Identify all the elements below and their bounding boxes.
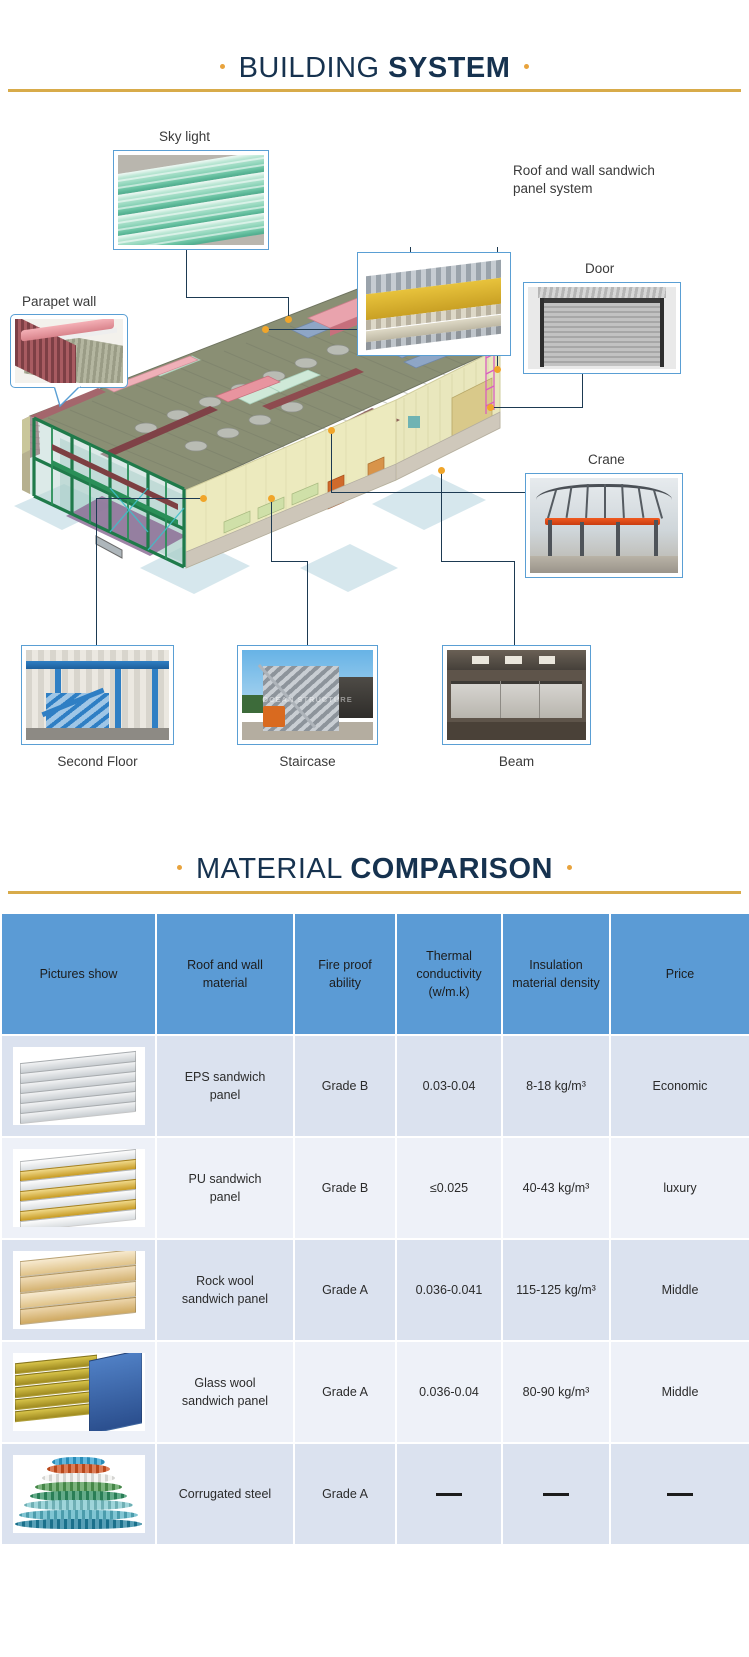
door-header-panel: [538, 287, 665, 298]
table-row: PU sandwich panel Grade B ≤0.025 40-43 k…: [1, 1137, 749, 1239]
leader-door-v1: [582, 372, 583, 408]
staircase-watermark: OCEAN STRUCTURE: [247, 695, 368, 704]
beam-floor: [447, 722, 586, 740]
crane-floor: [530, 556, 678, 573]
cell-density: 8-18 kg/m³: [502, 1035, 610, 1137]
building-system-heading: BUILDING SYSTEM: [0, 52, 749, 85]
beam-stiffener: [500, 681, 502, 719]
crane-column: [548, 520, 552, 560]
table-row: Corrugated steel Grade A: [1, 1443, 749, 1545]
empty-dash: [543, 1493, 569, 1496]
photo-second-floor-art: [26, 650, 169, 740]
cell-material: Corrugated steel: [156, 1443, 294, 1545]
photo-roof-wall-panel-art: [362, 257, 506, 351]
cell-material: Glass wool sandwich panel: [156, 1341, 294, 1443]
overhead-crane-art: [530, 478, 678, 573]
cell-picture: [1, 1239, 156, 1341]
table-header-row: Pictures show Roof and wall material Fir…: [1, 913, 749, 1035]
glass-wool-panel-art: [13, 1353, 145, 1431]
cell-fireproof: Grade B: [294, 1137, 396, 1239]
eps-panel-thumbnail: [13, 1047, 145, 1125]
cell-material-l2: panel: [210, 1088, 241, 1102]
photo-roof-wall-panel: [357, 252, 511, 356]
leader-beam-h: [441, 561, 515, 562]
heading-dot-left: [220, 64, 225, 69]
leader-door-h: [490, 407, 583, 408]
rock-wool-panel-art: [13, 1251, 145, 1329]
leader-staircase-h: [271, 561, 308, 562]
cell-material: Rock wool sandwich panel: [156, 1239, 294, 1341]
node-skylight: [285, 316, 292, 323]
cell-picture: [1, 1443, 156, 1545]
leader-crane-v: [331, 430, 332, 493]
pu-panel-thumbnail: [13, 1149, 145, 1227]
col-header-thermal-l2: conductivity: [416, 967, 481, 981]
empty-dash: [436, 1493, 462, 1496]
sandwich-panel-art: [362, 257, 506, 351]
col-header-fireproof-l1: Fire proof: [318, 958, 372, 972]
col-header-material-l1: Roof and wall: [187, 958, 263, 972]
cell-material: PU sandwich panel: [156, 1137, 294, 1239]
node-staircase: [268, 495, 275, 502]
col-header-pictures-label: Pictures show: [40, 967, 118, 981]
col-header-material-l2: material: [203, 976, 247, 990]
col-header-price-label: Price: [666, 967, 694, 981]
photo-sky-light-art: [118, 155, 264, 245]
rock-wool-panel-thumbnail: [13, 1251, 145, 1329]
photo-door-art: [528, 287, 676, 369]
parapet-wall-art: [15, 319, 123, 383]
glass-wool-panel-thumbnail: [13, 1353, 145, 1431]
table-row: Rock wool sandwich panel Grade A 0.036-0…: [1, 1239, 749, 1341]
col-header-density-l1: Insulation: [529, 958, 583, 972]
crane-rafter: [604, 484, 606, 518]
heading-rule-1: [8, 89, 741, 92]
heading2-word-bold: COMPARISON: [350, 853, 553, 885]
second-floor-post: [115, 669, 121, 728]
col-header-fireproof: Fire proof ability: [294, 913, 396, 1035]
material-comparison-heading: MATERIAL COMPARISON: [0, 853, 749, 886]
crane-bridge-girder: [545, 518, 660, 526]
col-header-thermal: Thermal conductivity (w/m.k): [396, 913, 502, 1035]
leader-beam-v2: [514, 561, 515, 645]
col-header-density: Insulation material density: [502, 913, 610, 1035]
heading2-word-light: MATERIAL: [196, 853, 342, 885]
leader-skylight-h: [186, 297, 289, 298]
beam-window: [472, 656, 489, 664]
heading-dot-right: [524, 64, 529, 69]
cell-thermal: ≤0.025: [396, 1137, 502, 1239]
heading-rule-2: [8, 891, 741, 894]
callout-label-second-floor: Second Floor: [21, 753, 174, 771]
cell-density: 115-125 kg/m³: [502, 1239, 610, 1341]
photo-staircase-art: OCEAN STRUCTURE: [242, 650, 373, 740]
sky-light-art: [118, 155, 264, 245]
beam-window: [505, 656, 522, 664]
cell-material: EPS sandwich panel: [156, 1035, 294, 1137]
crane-column: [654, 520, 658, 560]
cell-material-l2: panel: [210, 1190, 241, 1204]
cell-fireproof: Grade A: [294, 1341, 396, 1443]
col-header-density-l2: material density: [512, 976, 600, 990]
photo-door: [523, 282, 681, 374]
node-panel-roof: [262, 326, 269, 333]
callout-label-parapet-wall: Parapet wall: [22, 293, 162, 311]
cell-picture: [1, 1035, 156, 1137]
callout-label-sky-light: Sky light: [159, 128, 299, 146]
node-secondfloor: [200, 495, 207, 502]
heading2-dot-left: [177, 865, 182, 870]
cell-thermal: 0.036-0.04: [396, 1341, 502, 1443]
node-beam: [438, 467, 445, 474]
node-crane: [328, 427, 335, 434]
leader-skylight-v1: [186, 250, 187, 298]
photo-sky-light: [113, 150, 269, 250]
photo-crane: [525, 473, 683, 578]
cell-thermal: 0.036-0.041: [396, 1239, 502, 1341]
cell-material-l1: PU sandwich: [189, 1172, 262, 1186]
cell-fireproof: Grade A: [294, 1443, 396, 1545]
node-door: [487, 404, 494, 411]
callout-label-crane: Crane: [588, 451, 668, 469]
cell-picture: [1, 1341, 156, 1443]
corrugated-steel-art: [13, 1455, 145, 1533]
cell-material-l1: Rock wool: [196, 1274, 254, 1288]
corrugated-steel-thumbnail: [13, 1455, 145, 1533]
col-header-pictures: Pictures show: [1, 913, 156, 1035]
table-row: EPS sandwich panel Grade B 0.03-0.04 8-1…: [1, 1035, 749, 1137]
second-floor-deck: [26, 661, 169, 669]
cell-material-l2: sandwich panel: [182, 1394, 268, 1408]
cell-thermal: 0.03-0.04: [396, 1035, 502, 1137]
beam-web-plate: [451, 681, 582, 719]
second-floor-post: [152, 669, 158, 728]
col-header-fireproof-l2: ability: [329, 976, 361, 990]
callout-label-staircase: Staircase: [237, 753, 378, 771]
roller-door-art: [528, 287, 676, 369]
beam-window: [539, 656, 556, 664]
material-comparison-table: Pictures show Roof and wall material Fir…: [0, 912, 749, 1546]
pu-panel-art: [13, 1149, 145, 1227]
cell-fireproof: Grade A: [294, 1239, 396, 1341]
node-panel-wall: [494, 366, 501, 373]
photo-crane-art: [530, 478, 678, 573]
beam-stiffener: [539, 681, 541, 719]
cell-material-l1: EPS sandwich: [185, 1070, 266, 1084]
callout-label-beam: Beam: [442, 753, 591, 771]
parapet-callout-tail: [54, 386, 90, 408]
second-floor-art: [26, 650, 169, 740]
crane-column: [616, 522, 620, 558]
cell-price: luxury: [610, 1137, 749, 1239]
building-system-diagram: Sky light Roof and wall sandwich panel s…: [0, 100, 749, 800]
callout-label-door: Door: [585, 260, 665, 278]
cell-density: [502, 1443, 610, 1545]
cell-material-l2: sandwich panel: [182, 1292, 268, 1306]
heading2-dot-right: [567, 865, 572, 870]
crane-column: [580, 522, 584, 558]
col-header-thermal-l3: (w/m.k): [429, 985, 470, 999]
callout-label-roof-wall-panel: Roof and wall sandwich panel system: [513, 162, 693, 198]
col-header-price: Price: [610, 913, 749, 1035]
door-shutter-curtain: [544, 303, 659, 366]
beam-art: [447, 650, 586, 740]
cell-material-l1: Corrugated steel: [179, 1487, 271, 1501]
heading-word-bold: SYSTEM: [388, 52, 510, 84]
leader-secondfloor-v: [96, 499, 97, 645]
staircase-art: OCEAN STRUCTURE: [242, 650, 373, 740]
cell-fireproof: Grade B: [294, 1035, 396, 1137]
photo-staircase: OCEAN STRUCTURE: [237, 645, 378, 745]
cell-price: Middle: [610, 1239, 749, 1341]
cell-material-l1: Glass wool: [194, 1376, 255, 1390]
cell-picture: [1, 1137, 156, 1239]
photo-beam: [442, 645, 591, 745]
eps-panel-art: [13, 1047, 145, 1125]
cell-price: Economic: [610, 1035, 749, 1137]
empty-dash: [667, 1493, 693, 1496]
cell-price: [610, 1443, 749, 1545]
cell-density: 80-90 kg/m³: [502, 1341, 610, 1443]
cell-price: Middle: [610, 1341, 749, 1443]
forklift: [263, 706, 285, 728]
leader-crane-h: [331, 492, 525, 493]
second-floor-ground: [26, 728, 169, 740]
cell-density: 40-43 kg/m³: [502, 1137, 610, 1239]
leader-staircase-v1: [271, 498, 272, 562]
leader-beam-v1: [441, 470, 442, 561]
cell-thermal: [396, 1443, 502, 1545]
leader-staircase-v2: [307, 561, 308, 645]
table-row: Glass wool sandwich panel Grade A 0.036-…: [1, 1341, 749, 1443]
photo-beam-art: [447, 650, 586, 740]
door-jamb-right: [660, 298, 664, 367]
heading-word-light: BUILDING: [239, 52, 380, 84]
photo-parapet-wall: [10, 314, 128, 388]
photo-second-floor: [21, 645, 174, 745]
col-header-material: Roof and wall material: [156, 913, 294, 1035]
col-header-thermal-l1: Thermal: [426, 949, 472, 963]
photo-parapet-wall-art: [15, 319, 123, 383]
leader-secondfloor-h: [96, 498, 203, 499]
